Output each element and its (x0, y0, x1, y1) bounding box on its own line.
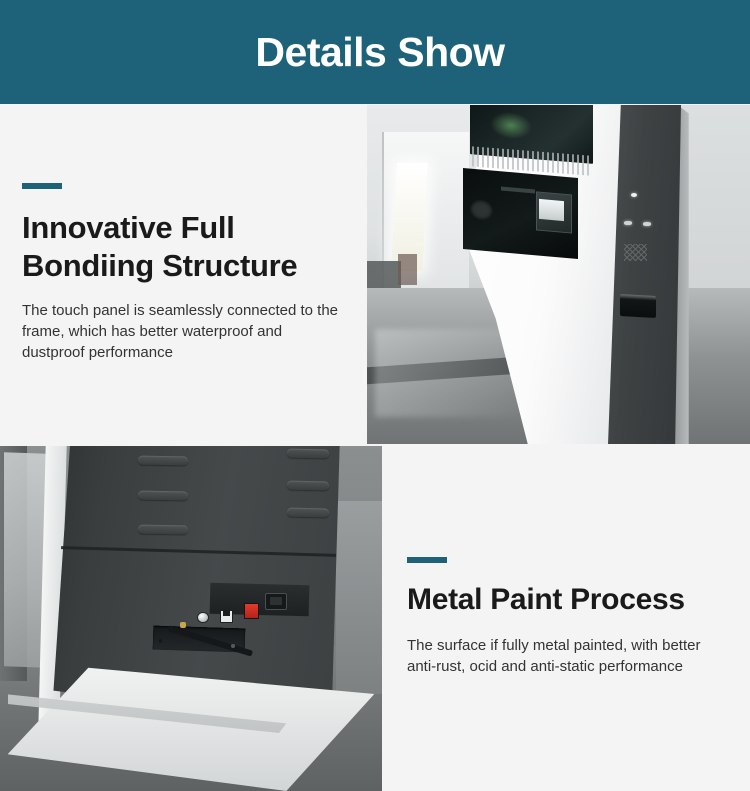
text-block-top-left: Innovative Full Bondiing Structure The t… (0, 105, 366, 444)
accent-dash-icon (407, 557, 447, 563)
rear-knob-icon (197, 612, 209, 624)
kiosk-cash-slot (620, 294, 656, 318)
rear-power-inlet-icon (265, 593, 286, 611)
rear-vent-slot (137, 490, 187, 500)
rear-rj45-port-icon (220, 610, 233, 623)
kiosk-display-glow (490, 110, 532, 140)
kiosk-speaker-grille-icon (624, 244, 647, 261)
rear-glass-panel (4, 452, 46, 667)
kiosk-pinpad-screen (539, 199, 564, 222)
rear-screw-dot (159, 639, 162, 642)
kiosk-indicator-led (643, 222, 651, 226)
feature-body-metal-paint: The surface if fully metal painted, with… (407, 635, 728, 678)
kiosk-terminal-illustration (367, 105, 750, 444)
rear-vent-slot (137, 525, 187, 535)
accent-dash-icon (22, 183, 62, 189)
photo-kiosk-rear-base (0, 446, 382, 791)
photo-kiosk-terminal (367, 105, 750, 444)
rear-vent-slot (286, 508, 328, 518)
panel-innovative-full-bonding: Innovative Full Bondiing Structure The t… (0, 105, 366, 444)
rear-right-panel (336, 501, 382, 694)
text-block-bottom-right: Metal Paint Process The surface if fully… (383, 446, 750, 791)
details-show-page: Details Show Innovative Full Bondiing St… (0, 0, 750, 791)
rear-vent-slot (137, 456, 187, 466)
kiosk-background-small-object (398, 254, 417, 285)
kiosk-rear-illustration (0, 446, 382, 791)
feature-title-bonding: Innovative Full Bondiing Structure (22, 209, 344, 285)
rear-antenna-base (180, 622, 186, 628)
kiosk-indicator-led (624, 221, 632, 225)
rear-vent-slot (286, 480, 328, 490)
header-band: Details Show (0, 0, 750, 104)
rear-screw-dot (231, 644, 234, 647)
rear-power-switch-icon (244, 603, 259, 619)
feature-body-bonding: The touch panel is seamlessly connected … (22, 300, 344, 364)
page-title: Details Show (0, 0, 750, 104)
panel-metal-paint-process: Metal Paint Process The surface if fully… (383, 446, 750, 791)
rear-vent-slot (286, 449, 328, 459)
feature-title-metal-paint: Metal Paint Process (407, 582, 728, 619)
